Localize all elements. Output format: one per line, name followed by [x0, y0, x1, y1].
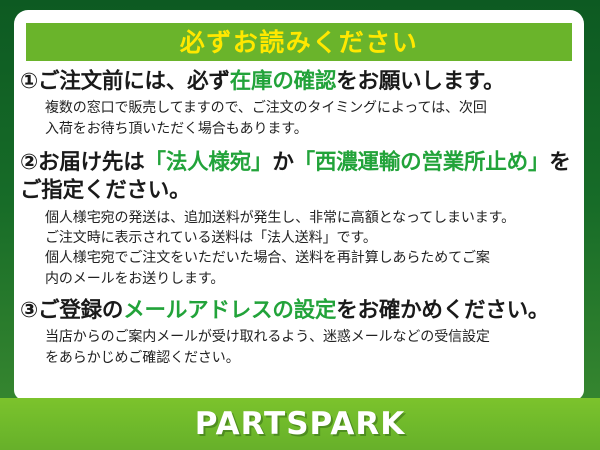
notice-item-2: ②お届け先は「法人様宛」か「西濃運輸の営業所止め」をご指定ください。 個人様宅宛…	[18, 149, 576, 289]
brand-logo: PARTSPARK	[195, 409, 406, 440]
notice-item-2-head-part-3: か	[272, 150, 293, 175]
notice-item-1-body: 複数の窓口で販売してますので、ご注文のタイミングによっては、次回 入荷をお待ち頂…	[18, 96, 576, 139]
notice-item-list: ①ご注文前には、必ず在庫の確認をお願いします。 複数の窓口で販売してますので、ご…	[14, 68, 584, 368]
notice-item-1-heading: ①ご注文前には、必ず在庫の確認をお願いします。	[18, 68, 576, 96]
banner-title: 必ずお読みください	[180, 30, 419, 55]
notice-item-2-body-line-3: 個人様宅宛でご注文をいただいた場合、送料を再計算しあらためてご案	[45, 248, 576, 268]
notice-item-1: ①ご注文前には、必ず在庫の確認をお願いします。 複数の窓口で販売してますので、ご…	[18, 68, 576, 139]
notice-item-3-body: 当店からのご案内メールが受け取れるよう、迷惑メールなどの受信設定 をあらかじめご…	[18, 325, 576, 368]
notice-item-3-head-highlight: メールアドレスの設定	[123, 298, 336, 323]
notice-item-3-heading: ③ご登録のメールアドレスの設定をお確かめください。	[18, 297, 576, 325]
notice-item-2-body: 個人様宅宛の発送は、追加送料が発生し、非常に高額となってしまいます。 ご注文時に…	[18, 206, 576, 289]
notice-item-2-body-line-4: 内のメールをお送りします。	[45, 269, 576, 289]
notice-item-1-body-line-2: 入荷をお待ち頂いただく場合もあります。	[45, 119, 576, 139]
notice-item-2-body-line-2: ご注文時に表示されている送料は「法人送料」です。	[45, 228, 576, 248]
notice-item-2-head-part-1: お届け先は	[38, 150, 145, 175]
notice-item-2-body-line-1: 個人様宅宛の発送は、追加送料が発生し、非常に高額となってしまいます。	[45, 208, 576, 228]
content-panel: 必ずお読みください ①ご注文前には、必ず在庫の確認をお願いします。 複数の窓口で…	[14, 10, 584, 400]
notice-item-3-head-part-1: ご登録の	[38, 298, 123, 323]
notice-item-2-head-highlight-1: 「法人様宛」	[145, 150, 273, 175]
notice-item-1-head-part-3: をお願いします。	[336, 69, 504, 94]
notice-item-2-heading: ②お届け先は「法人様宛」か「西濃運輸の営業所止め」をご指定ください。	[18, 149, 576, 206]
notice-item-1-head-part-1: ご注文前には、必ず	[38, 69, 230, 94]
notice-item-3: ③ご登録のメールアドレスの設定をお確かめください。 当店からのご案内メールが受け…	[18, 297, 576, 368]
notice-item-2-number: ②	[20, 150, 38, 175]
notice-banner: 必ずお読みください ①ご注文前には、必ず在庫の確認をお願いします。 複数の窓口で…	[0, 0, 600, 450]
notice-item-3-head-part-3: をお確かめください。	[336, 298, 549, 323]
notice-item-2-head-highlight-2: 「西濃運輸の営業所止め」	[294, 150, 550, 175]
notice-item-3-body-line-1: 当店からのご案内メールが受け取れるよう、迷惑メールなどの受信設定	[45, 327, 576, 347]
notice-item-3-body-line-2: をあらかじめご確認ください。	[45, 348, 576, 368]
notice-item-1-number: ①	[20, 69, 38, 94]
notice-item-1-head-highlight: 在庫の確認	[230, 69, 337, 94]
title-bar: 必ずお読みください	[26, 23, 572, 61]
notice-item-1-body-line-1: 複数の窓口で販売してますので、ご注文のタイミングによっては、次回	[45, 98, 576, 118]
notice-item-3-number: ③	[20, 298, 38, 323]
footer-bar: PARTSPARK	[0, 398, 600, 450]
